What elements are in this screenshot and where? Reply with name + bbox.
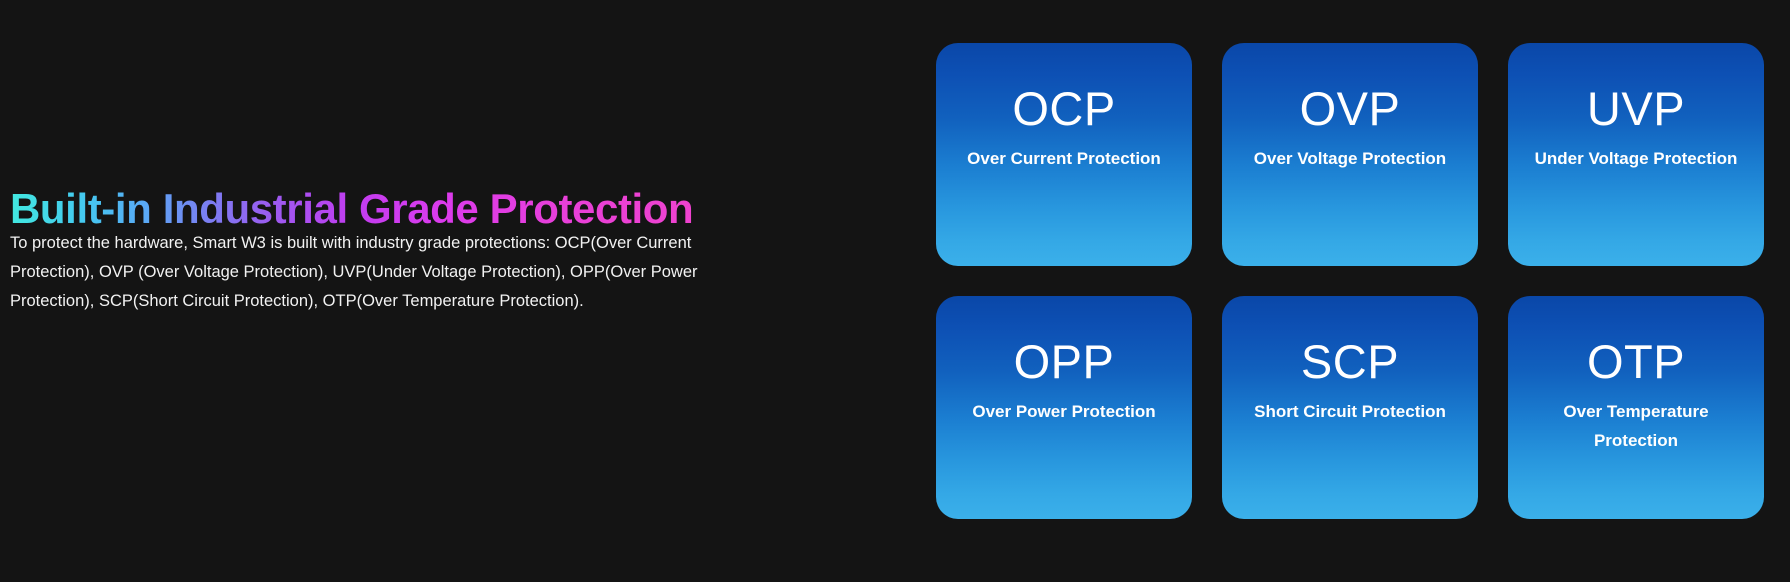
protection-card-ocp: OCP Over Current Protection [936,43,1192,266]
card-description: Short Circuit Protection [1240,397,1460,426]
card-description: Under Voltage Protection [1521,144,1752,173]
protection-card-opp: OPP Over Power Protection [936,296,1192,519]
card-description: Over Temperature Protection [1508,397,1764,455]
card-acronym: OVP [1300,81,1401,136]
protection-card-scp: SCP Short Circuit Protection [1222,296,1478,519]
card-acronym: UVP [1587,81,1685,136]
card-description: Over Voltage Protection [1240,144,1460,173]
protection-feature-section: Built-in Industrial Grade Protection To … [0,0,1790,582]
protection-card-grid: OCP Over Current Protection OVP Over Vol… [936,43,1765,519]
card-acronym: OCP [1012,81,1115,136]
protection-card-ovp: OVP Over Voltage Protection [1222,43,1478,266]
card-description: Over Power Protection [958,397,1169,426]
card-acronym: SCP [1301,334,1399,389]
section-heading: Built-in Industrial Grade Protection [10,183,693,235]
section-text-column: Built-in Industrial Grade Protection To … [10,0,860,582]
protection-card-otp: OTP Over Temperature Protection [1508,296,1764,519]
card-description: Over Current Protection [953,144,1175,173]
card-acronym: OPP [1014,334,1115,389]
section-body-text: To protect the hardware, Smart W3 is bui… [10,229,750,316]
card-acronym: OTP [1587,334,1685,389]
protection-card-uvp: UVP Under Voltage Protection [1508,43,1764,266]
